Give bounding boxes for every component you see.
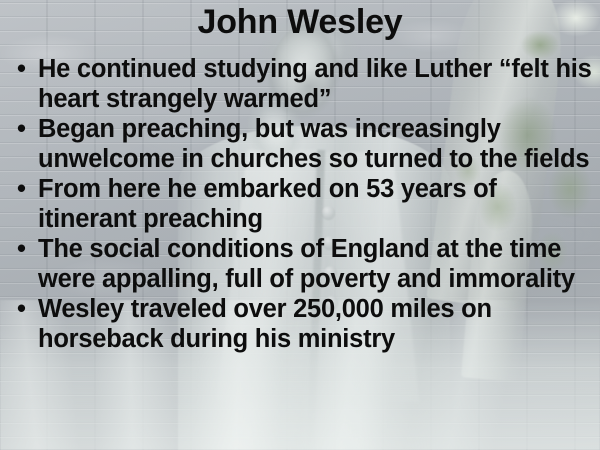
bullet-item-2: • Began preaching, but was increasingly …	[10, 114, 598, 174]
bullet-item-1: • He continued studying and like Luther …	[10, 54, 598, 114]
bullet-text-2: Began preaching, but was increasingly un…	[38, 115, 589, 173]
bullet-marker-icon: •	[17, 234, 26, 264]
bullet-text-5: Wesley traveled over 250,000 miles on ho…	[38, 295, 492, 353]
bullet-marker-icon: •	[17, 54, 26, 84]
bullet-text-3: From here he embarked on 53 years of iti…	[38, 175, 497, 233]
bullet-text-1: He continued studying and like Luther “f…	[38, 55, 592, 113]
bullet-text-4: The social conditions of England at the …	[38, 235, 575, 293]
bullet-item-4: • The social conditions of England at th…	[10, 234, 598, 294]
bullet-marker-icon: •	[17, 294, 26, 324]
presentation-slide: John Wesley • He continued studying and …	[0, 0, 600, 450]
bullet-item-5: • Wesley traveled over 250,000 miles on …	[10, 294, 598, 354]
slide-title: John Wesley	[0, 2, 600, 42]
bullet-marker-icon: •	[17, 174, 26, 204]
bullet-marker-icon: •	[17, 114, 26, 144]
bullet-list: • He continued studying and like Luther …	[10, 54, 598, 354]
bullet-item-3: • From here he embarked on 53 years of i…	[10, 174, 598, 234]
slide-content: John Wesley • He continued studying and …	[0, 0, 600, 450]
